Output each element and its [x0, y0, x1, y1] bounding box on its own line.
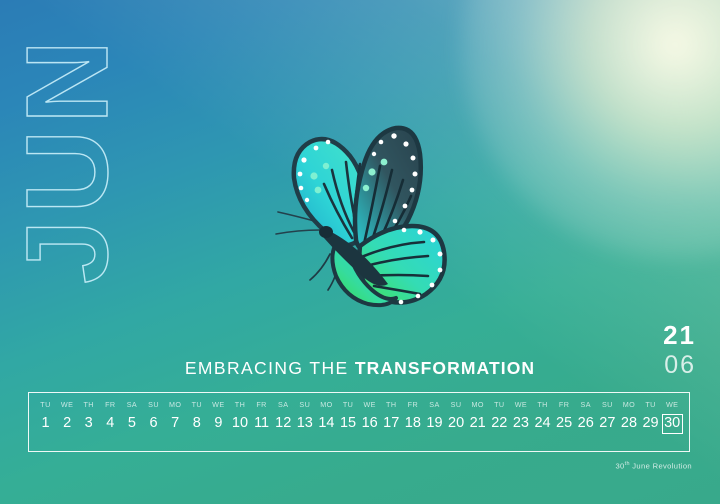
day-number: 26: [575, 414, 596, 433]
calendar-day-16[interactable]: WE16: [359, 400, 380, 434]
day-of-week-label: SA: [121, 400, 142, 409]
day-of-week-label: TU: [338, 400, 359, 409]
day-of-week-label: FR: [251, 400, 272, 409]
calendar-day-12[interactable]: SA12: [273, 400, 294, 434]
calendar-day-14[interactable]: MO14: [316, 400, 337, 434]
day-of-week-label: SU: [446, 400, 467, 409]
day-of-week-label: FR: [402, 400, 423, 409]
calendar-day-30[interactable]: WE30: [662, 400, 683, 434]
day-of-week-label: FR: [100, 400, 121, 409]
day-number: 18: [402, 414, 423, 433]
day-of-week-label: WE: [208, 400, 229, 409]
calendar-day-18[interactable]: FR18: [402, 400, 423, 434]
day-of-week-label: TH: [532, 400, 553, 409]
day-number: 20: [446, 414, 467, 433]
year-value: 21: [663, 322, 696, 348]
day-number: 29: [640, 414, 661, 433]
day-number: 23: [510, 414, 531, 433]
calendar-day-20[interactable]: SU20: [446, 400, 467, 434]
calendar-day-21[interactable]: MO21: [467, 400, 488, 434]
day-number: 13: [294, 414, 315, 433]
calendar-strip: TU1WE2TH3FR4SA5SU6MO7TU8WE9TH10FR11SA12S…: [28, 392, 690, 452]
day-of-week-label: TU: [489, 400, 510, 409]
day-number: 17: [381, 414, 402, 433]
day-of-week-label: MO: [165, 400, 186, 409]
day-number: 12: [273, 414, 294, 433]
day-number: 15: [338, 414, 359, 433]
calendar-day-29[interactable]: TU29: [640, 400, 661, 434]
calendar-day-5[interactable]: SA5: [121, 400, 142, 434]
day-number: 30: [662, 414, 683, 434]
calendar-day-25[interactable]: FR25: [554, 400, 575, 434]
day-of-week-label: TU: [186, 400, 207, 409]
calendar-day-6[interactable]: SU6: [143, 400, 164, 434]
calendar-day-11[interactable]: FR11: [251, 400, 272, 434]
calendar-day-4[interactable]: FR4: [100, 400, 121, 434]
day-of-week-label: FR: [554, 400, 575, 409]
calendar-day-15[interactable]: TU15: [338, 400, 359, 434]
sun-glow-icon: [460, 0, 720, 260]
day-number: 22: [489, 414, 510, 433]
tagline: EMBRACING THE TRANSFORMATION: [0, 358, 720, 379]
day-number: 6: [143, 414, 164, 433]
day-of-week-label: TU: [640, 400, 661, 409]
day-number: 10: [229, 414, 250, 433]
day-of-week-label: TH: [381, 400, 402, 409]
day-of-week-label: TU: [35, 400, 56, 409]
footnote-day-number: 30: [615, 462, 624, 471]
day-number: 7: [165, 414, 186, 433]
day-of-week-label: TH: [78, 400, 99, 409]
tagline-bold: TRANSFORMATION: [355, 358, 535, 378]
calendar-day-8[interactable]: TU8: [186, 400, 207, 434]
day-number: 9: [208, 414, 229, 433]
day-number: 24: [532, 414, 553, 433]
calendar-day-24[interactable]: TH24: [532, 400, 553, 434]
day-of-week-label: WE: [359, 400, 380, 409]
day-number: 21: [467, 414, 488, 433]
day-of-week-label: SA: [575, 400, 596, 409]
calendar-day-26[interactable]: SA26: [575, 400, 596, 434]
footnote-holiday: 30th June Revolution: [615, 461, 692, 471]
day-number: 3: [78, 414, 99, 433]
calendar-day-22[interactable]: TU22: [489, 400, 510, 434]
month-wordmark: JUN: [8, 26, 126, 292]
day-of-week-label: TH: [229, 400, 250, 409]
day-of-week-label: WE: [662, 400, 683, 409]
calendar-day-17[interactable]: TH17: [381, 400, 402, 434]
day-number: 16: [359, 414, 380, 433]
calendar-day-10[interactable]: TH10: [229, 400, 250, 434]
day-of-week-label: SU: [143, 400, 164, 409]
day-number: 11: [251, 414, 272, 433]
calendar-days-row: TU1WE2TH3FR4SA5SU6MO7TU8WE9TH10FR11SA12S…: [35, 400, 683, 434]
day-number: 25: [554, 414, 575, 433]
calendar-day-28[interactable]: MO28: [618, 400, 639, 434]
day-of-week-label: WE: [57, 400, 78, 409]
butterfly-illustration: [248, 104, 460, 316]
day-number: 8: [186, 414, 207, 433]
day-number: 2: [57, 414, 78, 433]
calendar-day-7[interactable]: MO7: [165, 400, 186, 434]
month-value: 06: [663, 353, 696, 378]
calendar-day-23[interactable]: WE23: [510, 400, 531, 434]
day-of-week-label: MO: [618, 400, 639, 409]
day-number: 5: [121, 414, 142, 433]
day-number: 14: [316, 414, 337, 433]
calendar-day-3[interactable]: TH3: [78, 400, 99, 434]
day-number: 27: [597, 414, 618, 433]
footnote-label: June Revolution: [630, 462, 692, 471]
day-of-week-label: SU: [597, 400, 618, 409]
day-of-week-label: MO: [316, 400, 337, 409]
day-of-week-label: WE: [510, 400, 531, 409]
day-of-week-label: SA: [424, 400, 445, 409]
day-number: 1: [35, 414, 56, 433]
calendar-day-27[interactable]: SU27: [597, 400, 618, 434]
calendar-day-13[interactable]: SU13: [294, 400, 315, 434]
day-number: 19: [424, 414, 445, 433]
calendar-day-9[interactable]: WE9: [208, 400, 229, 434]
tagline-light: EMBRACING THE: [185, 358, 355, 378]
calendar-day-2[interactable]: WE2: [57, 400, 78, 434]
day-of-week-label: SU: [294, 400, 315, 409]
day-of-week-label: MO: [467, 400, 488, 409]
calendar-poster: JUN: [0, 0, 720, 504]
calendar-day-1[interactable]: TU1: [35, 400, 56, 434]
year-month-numerals: 21 06: [663, 322, 696, 378]
day-of-week-label: SA: [273, 400, 294, 409]
calendar-day-19[interactable]: SA19: [424, 400, 445, 434]
day-number: 4: [100, 414, 121, 433]
day-number: 28: [618, 414, 639, 433]
